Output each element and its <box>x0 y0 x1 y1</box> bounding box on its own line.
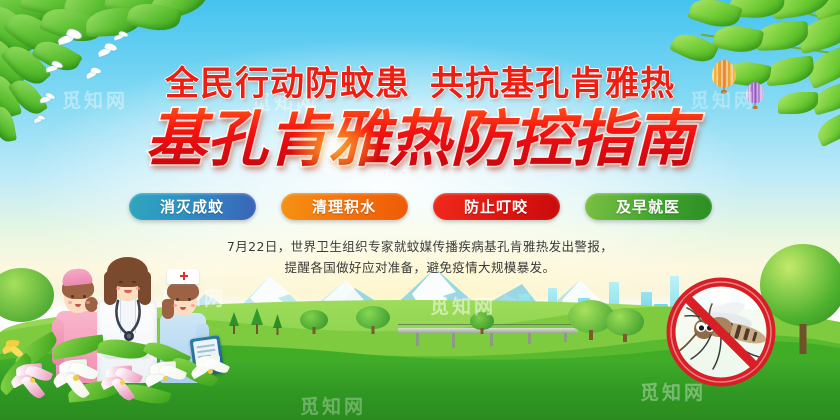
blue-nurse-hair-tail <box>162 299 174 319</box>
lily-flower-white <box>190 354 232 390</box>
pill-seek-care-early[interactable]: 及早就医 <box>585 193 712 220</box>
pill-prevent-bites[interactable]: 防止叮咬 <box>433 193 560 220</box>
tree-pine <box>250 308 264 334</box>
tree-round <box>356 306 390 334</box>
tree-pine <box>228 312 240 334</box>
lily-flower-bed <box>0 336 244 420</box>
pill-eliminate-mosquitoes[interactable]: 消灭成蚊 <box>129 193 256 220</box>
lily-flower-white <box>52 358 100 400</box>
lily-flower-white <box>144 360 190 400</box>
dove-icon <box>114 32 129 42</box>
headline-part-2: 共抗基孔肯雅热 <box>430 64 675 104</box>
pill-clear-standing-water[interactable]: 清理积水 <box>281 193 408 220</box>
watermark: 觅知网 <box>300 392 366 419</box>
tree-round <box>300 310 328 334</box>
yellow-flower <box>2 340 24 360</box>
watermark: 觅知网 <box>430 292 496 319</box>
poster-banner: 觅知网 觅知网 觅知网 觅知网 觅知网 觅知网 觅知网 全民行动防蚊患共抗基孔肯… <box>0 0 840 420</box>
red-cross-icon <box>180 272 188 280</box>
blue-nurse-hair <box>167 281 199 301</box>
dove-icon <box>58 30 84 46</box>
page-title: 基孔肯雅热防控指南 <box>0 108 840 172</box>
pink-nurse-cap <box>61 267 93 286</box>
tree-round <box>606 308 644 342</box>
tree-pine <box>272 314 283 335</box>
headline-part-1: 全民行动防蚊患 <box>165 64 410 104</box>
lily-flower-pink <box>10 362 56 402</box>
key-measures-list: 消灭成蚊 清理积水 防止叮咬 及早就医 <box>0 193 840 220</box>
no-mosquito-prohibition-sign <box>663 277 779 387</box>
lily-flower-pink <box>100 364 146 404</box>
poster-headline: 全民行动防蚊患共抗基孔肯雅热 <box>0 56 840 105</box>
